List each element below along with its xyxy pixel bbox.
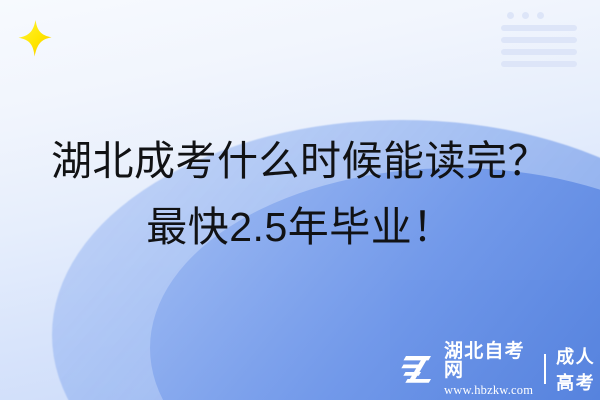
sparkle-star-icon	[10, 14, 58, 62]
logo-divider	[544, 354, 546, 384]
card-icon-line	[501, 25, 577, 31]
card-icon-line	[501, 49, 577, 55]
card-icon-dot	[537, 12, 544, 19]
banner-headline: 湖北成考什么时候能读完？ 最快2.5年毕业！	[0, 128, 600, 260]
card-icon-line	[501, 61, 577, 67]
card-icon-line	[501, 37, 577, 43]
hbzkw-z-mark-icon	[401, 353, 437, 385]
logo-site-url: www.hbzkw.com	[444, 384, 533, 397]
promo-banner: 湖北成考什么时候能读完？ 最快2.5年毕业！ 湖北自考网 www.hbzkw.c…	[0, 0, 600, 400]
headline-line-1: 湖北成考什么时候能读完？	[0, 128, 600, 194]
card-icon-dot	[522, 12, 529, 19]
logo-text-block: 湖北自考网 www.hbzkw.com	[444, 342, 533, 397]
site-logo[interactable]: 湖北自考网 www.hbzkw.com 成人高考	[401, 349, 600, 389]
document-card-icon	[499, 12, 579, 68]
logo-tagline: 成人高考	[556, 343, 600, 395]
headline-line-2: 最快2.5年毕业！	[0, 194, 600, 260]
card-icon-dots	[499, 12, 579, 19]
logo-site-name: 湖北自考网	[444, 342, 533, 380]
card-icon-dot	[507, 12, 514, 19]
